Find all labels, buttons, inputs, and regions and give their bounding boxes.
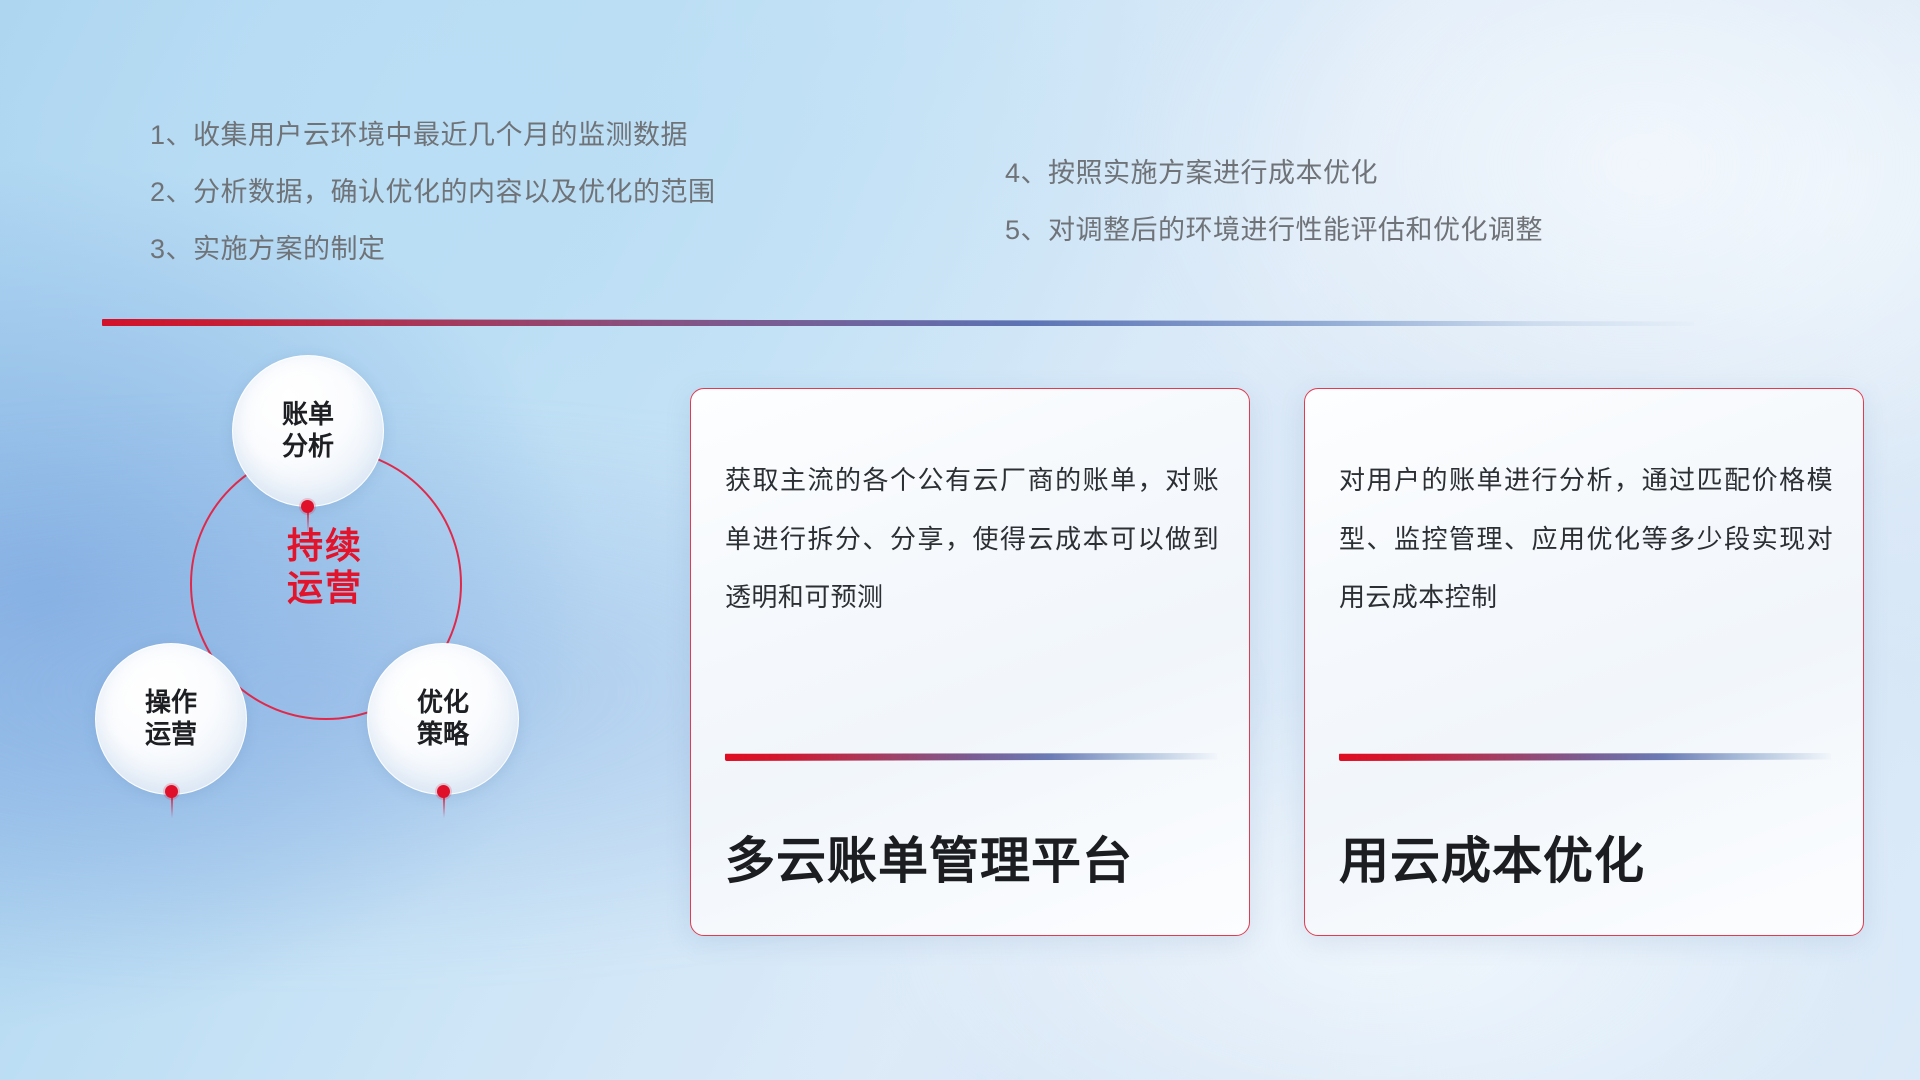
feature-card-multi-cloud-bill-platform[interactable]: 获取主流的各个公有云厂商的账单，对账单进行拆分、分享，使得云成本可以做到透明和可… — [690, 388, 1250, 936]
card-title: 用云成本优化 — [1339, 821, 1645, 893]
diagram-node-dot — [165, 785, 178, 798]
bubble-label-line-2: 策略 — [417, 719, 469, 751]
diagram-bubble-optimization-strategy[interactable]: 优化 策略 — [367, 643, 519, 795]
diagram-node-tail — [443, 796, 445, 818]
diagram-node-dot — [301, 500, 314, 513]
center-label-line-2: 运营 — [225, 567, 425, 609]
diagram-node-tail — [171, 796, 173, 818]
step-item: 1、收集用户云环境中最近几个月的监测数据 — [150, 122, 716, 149]
diagram-node-dot — [437, 785, 450, 798]
diagram-node-tail — [307, 511, 309, 533]
step-item: 5、对调整后的环境进行性能评估和优化调整 — [1005, 217, 1543, 244]
step-item: 4、按照实施方案进行成本优化 — [1005, 160, 1543, 187]
step-item: 3、实施方案的制定 — [150, 236, 716, 263]
center-label-line-1: 持续 — [225, 525, 425, 567]
bubble-label-line-2: 运营 — [145, 719, 197, 751]
bubble-label-line-1: 账单 — [282, 399, 334, 431]
diagram-center-label: 持续 运营 — [225, 525, 425, 610]
bubble-label-line-1: 优化 — [417, 687, 469, 719]
steps-list-right: 4、按照实施方案进行成本优化 5、对调整后的环境进行性能评估和优化调整 — [1005, 160, 1543, 244]
card-description: 获取主流的各个公有云厂商的账单，对账单进行拆分、分享，使得云成本可以做到透明和可… — [725, 451, 1219, 627]
card-description: 对用户的账单进行分析，通过匹配价格模型、监控管理、应用优化等多少段实现对用云成本… — [1339, 451, 1833, 627]
feature-card-cloud-cost-optimization[interactable]: 对用户的账单进行分析，通过匹配价格模型、监控管理、应用优化等多少段实现对用云成本… — [1304, 388, 1864, 936]
continuous-operations-diagram: 持续 运营 账单 分析 操作 运营 优化 策略 — [95, 355, 565, 855]
section-divider — [102, 319, 1694, 326]
step-item: 2、分析数据，确认优化的内容以及优化的范围 — [150, 179, 716, 206]
bubble-label-line-1: 操作 — [145, 687, 197, 719]
bubble-label-line-2: 分析 — [282, 431, 334, 463]
card-divider — [725, 753, 1217, 761]
diagram-bubble-operations[interactable]: 操作 运营 — [95, 643, 247, 795]
card-divider — [1339, 753, 1831, 761]
card-title: 多云账单管理平台 — [725, 821, 1133, 893]
steps-list-left: 1、收集用户云环境中最近几个月的监测数据 2、分析数据，确认优化的内容以及优化的… — [150, 122, 716, 263]
slide-stage: 1、收集用户云环境中最近几个月的监测数据 2、分析数据，确认优化的内容以及优化的… — [0, 0, 1920, 1080]
diagram-bubble-bill-analysis[interactable]: 账单 分析 — [232, 355, 384, 507]
